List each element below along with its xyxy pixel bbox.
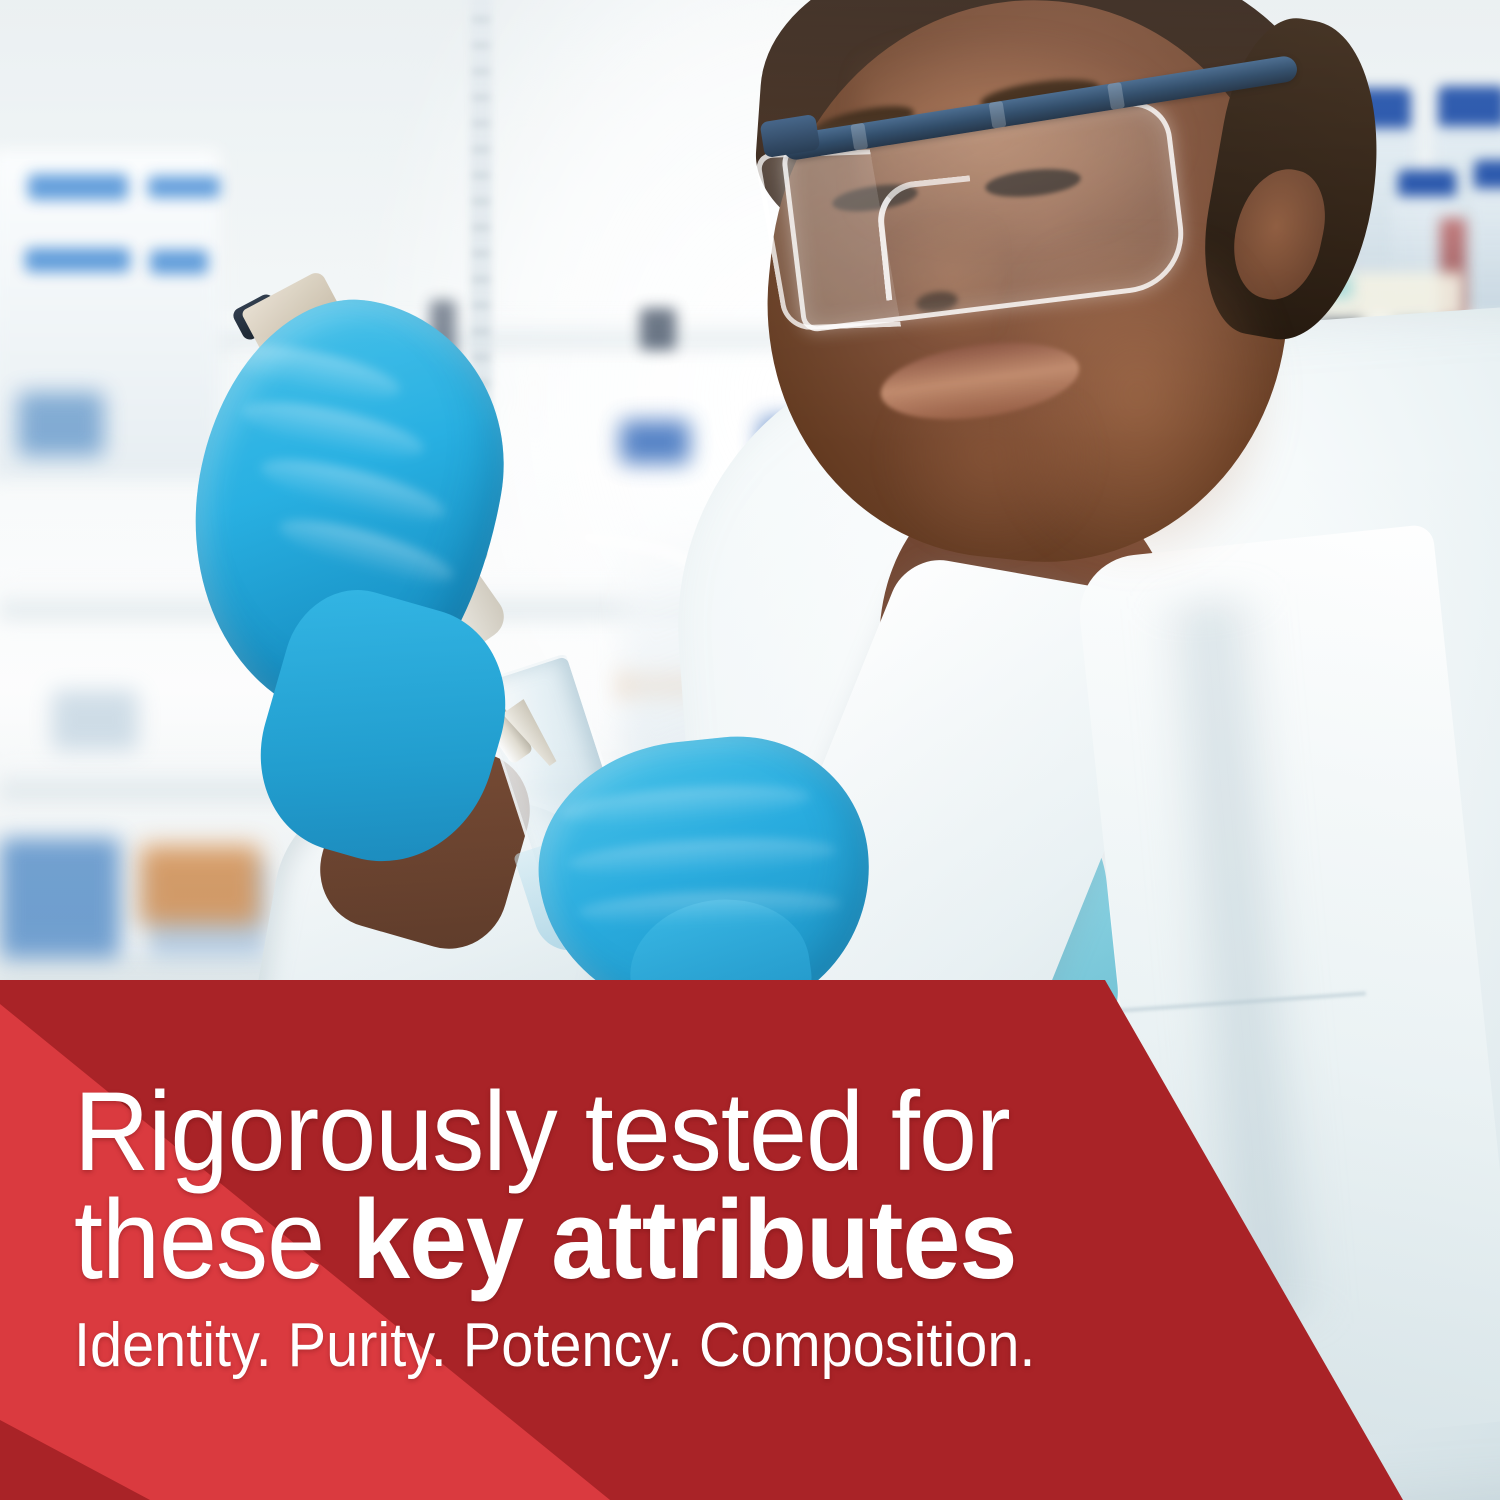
headline-line-2: these key attributes: [74, 1186, 1004, 1294]
banner-copy: Rigorously tested for these key attribut…: [74, 1078, 1074, 1377]
background-blue-box: [0, 838, 120, 958]
lab-coat-pocket: [1113, 991, 1380, 1212]
headline-line-2-bold: key attributes: [352, 1177, 1016, 1302]
cabinet-label-strip: [28, 174, 128, 200]
background-blue-box: [52, 690, 138, 750]
banner-subline: Identity. Purity. Potency. Composition.: [74, 1315, 1004, 1377]
background-blue-box: [18, 392, 104, 456]
headline-line-1: Rigorously tested for: [74, 1078, 1004, 1186]
headline-line-2-light: these: [74, 1177, 352, 1302]
banner-image: Rigorously tested for these key attribut…: [0, 0, 1500, 1500]
background-blue-box: [620, 420, 690, 464]
cabinet-label-strip: [148, 176, 220, 198]
page-title: Rigorously tested for these key attribut…: [74, 1078, 1004, 1293]
cabinet-label-strip: [150, 250, 208, 274]
background-orange-box: [140, 845, 260, 925]
reagent-bottle: [1470, 188, 1500, 314]
equipment-knob: [640, 308, 676, 350]
chin: [880, 400, 1100, 560]
cabinet-label-strip: [25, 248, 130, 272]
safety-goggles-bridge: [874, 175, 982, 300]
